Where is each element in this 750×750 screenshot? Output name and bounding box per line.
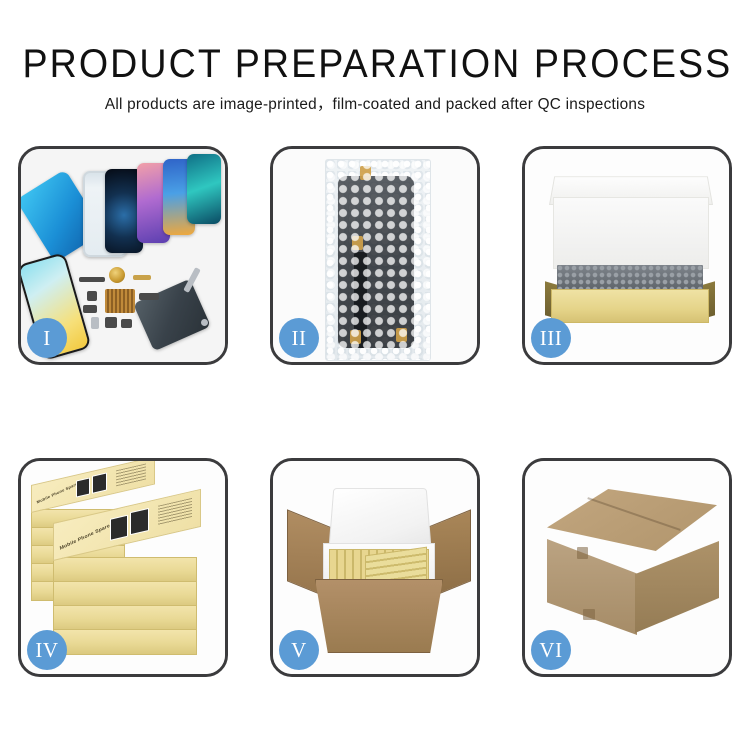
- box-text-lines-rear: [116, 463, 146, 486]
- chip-array-part-image: [105, 289, 135, 313]
- box-thumbnail-rear-1: [76, 477, 90, 497]
- small-part-b-image: [83, 305, 97, 313]
- box-thumbnail-rear-2: [92, 472, 107, 493]
- carton-right-face-image: [635, 541, 719, 633]
- wrapped-screen-image: [338, 176, 414, 348]
- tape-top-image: [360, 166, 371, 180]
- box-thumbnail-front-1: [110, 515, 128, 541]
- gold-connector-part-image: [133, 275, 151, 280]
- tape-middle-image: [352, 236, 363, 250]
- camera-part-image: [105, 317, 117, 328]
- flex-strip-part-image: [79, 277, 105, 282]
- step-badge-2: II: [279, 318, 319, 358]
- step-badge-4: IV: [27, 630, 67, 670]
- tape-bottom-right-image: [396, 328, 407, 342]
- process-steps-grid: I II III: [18, 146, 732, 676]
- grey-foam-insert-image: [557, 265, 703, 291]
- step-panel-1[interactable]: I: [18, 146, 228, 365]
- sim-tray-part-image: [91, 317, 99, 329]
- step-badge-1: I: [27, 318, 67, 358]
- foam-box-lid-image: [328, 488, 431, 549]
- step-panel-2[interactable]: II: [270, 146, 480, 365]
- tape-bottom-left-image: [350, 330, 361, 344]
- step-badge-3: III: [531, 318, 571, 358]
- step-badge-6: VI: [531, 630, 571, 670]
- stacked-box-front-4: [53, 629, 197, 655]
- carton-top-face-image: [547, 489, 717, 551]
- step-panel-5[interactable]: V: [270, 458, 480, 677]
- shipping-carton-body-image: [315, 579, 443, 653]
- teal-phone-image: [187, 154, 221, 224]
- carton-left-face-image: [547, 539, 637, 635]
- screw-image: [201, 319, 208, 326]
- flex-cable-part-image: [139, 293, 159, 300]
- white-foam-sheet-image: [553, 197, 709, 269]
- step-panel-4[interactable]: Mobile Phone Spare Parts Mobile Phone Sp…: [18, 458, 228, 677]
- bubble-wrap-bag-image: [325, 159, 431, 361]
- page-subtitle: All products are image-printed，film-coat…: [4, 86, 747, 115]
- small-part-a-image: [87, 291, 97, 301]
- step-badge-5: V: [279, 630, 319, 670]
- step-panel-6[interactable]: VI: [522, 458, 732, 677]
- yellow-box-front-image: [551, 289, 709, 323]
- carton-tape-upper-image: [577, 547, 588, 559]
- box-thumbnail-front-2: [130, 508, 149, 535]
- carton-tape-lower-image: [583, 609, 595, 620]
- phone-backplate-image: [133, 279, 211, 352]
- button-part-image: [121, 319, 132, 328]
- header: PRODUCT PREPARATION PROCESS All products…: [0, 0, 750, 115]
- speaker-part-image: [109, 267, 125, 283]
- page-title: PRODUCT PREPARATION PROCESS: [23, 0, 728, 86]
- box-text-lines-front: [158, 498, 192, 526]
- stacked-box-front-3: [53, 605, 197, 631]
- step-panel-3[interactable]: III: [522, 146, 732, 365]
- stacked-box-front-2: [53, 581, 197, 607]
- stacked-box-front-1: [53, 557, 197, 583]
